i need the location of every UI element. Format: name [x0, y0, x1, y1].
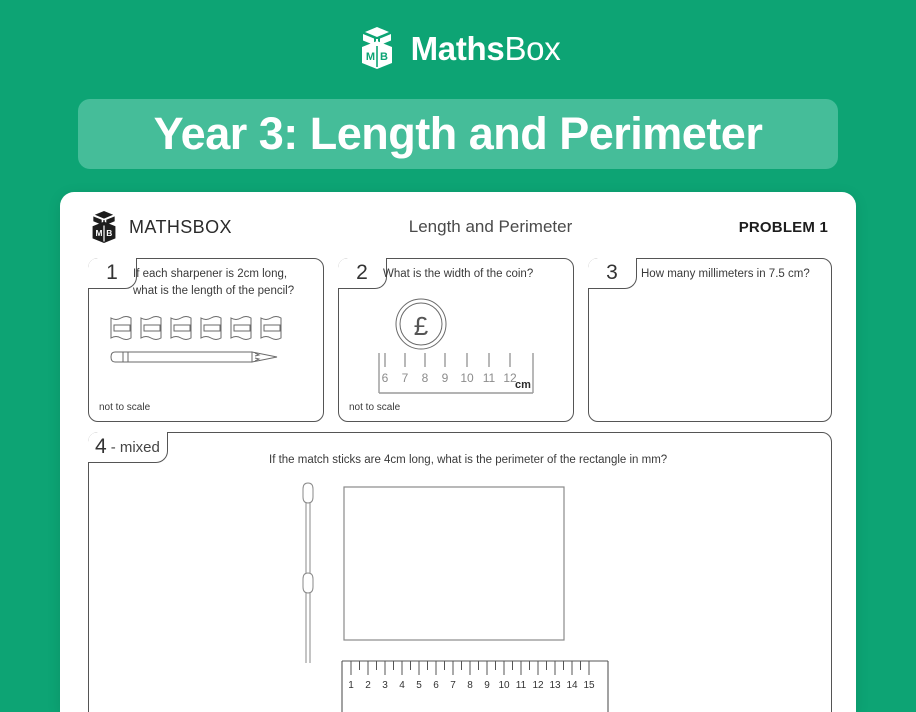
worksheet-brand-label: MATHSBOX	[129, 217, 232, 238]
svg-text:B: B	[106, 228, 112, 238]
svg-text:5: 5	[416, 680, 422, 691]
svg-text:11: 11	[483, 371, 496, 385]
svg-text:7: 7	[450, 680, 456, 691]
svg-text:14: 14	[566, 680, 578, 691]
pencil-illustration	[109, 347, 295, 369]
question-3-text: How many millimeters in 7.5 cm?	[641, 266, 827, 283]
worksheet-problem-label: PROBLEM 1	[638, 219, 828, 236]
brand-name-bold: Maths	[411, 30, 505, 67]
question-row: 1 If each sharpener is 2cm long, what is…	[88, 258, 830, 420]
svg-text:M: M	[366, 51, 375, 63]
worksheet-card: M B MATHSBOX Length and Perimeter PROBLE…	[60, 192, 856, 712]
svg-text:13: 13	[549, 680, 561, 691]
page-title: Year 3: Length and Perimeter	[154, 108, 763, 160]
worksheet-brand: M B MATHSBOX	[88, 210, 343, 244]
svg-text:3: 3	[382, 680, 388, 691]
mathsbox-logo-icon: M B	[88, 210, 120, 244]
svg-text:12: 12	[532, 680, 544, 691]
question-1-footnote: not to scale	[99, 402, 150, 413]
svg-text:£: £	[414, 311, 429, 341]
question-4: 4 - mixed If the match sticks are 4cm lo…	[88, 432, 832, 712]
question-1-text: If each sharpener is 2cm long, what is t…	[133, 266, 313, 299]
question-2-number: 2	[338, 258, 387, 289]
worksheet-topic: Length and Perimeter	[343, 217, 638, 237]
sharpeners-illustration	[109, 314, 295, 342]
svg-text:7: 7	[402, 371, 409, 385]
svg-text:1: 1	[348, 680, 354, 691]
question-2: 2 What is the width of the coin? £	[338, 258, 574, 422]
svg-text:11: 11	[516, 680, 527, 691]
svg-text:6: 6	[433, 680, 439, 691]
svg-text:4: 4	[399, 680, 405, 691]
svg-text:10: 10	[460, 371, 474, 385]
pound-coin-illustration: £	[391, 297, 451, 351]
question-3: 3 How many millimeters in 7.5 cm?	[588, 258, 832, 422]
svg-text:9: 9	[442, 371, 449, 385]
svg-text:2: 2	[365, 680, 371, 691]
question-4-number: 4 - mixed	[88, 432, 168, 463]
question-4-suffix: - mixed	[111, 439, 160, 456]
svg-text:8: 8	[467, 680, 473, 691]
question-1: 1 If each sharpener is 2cm long, what is…	[88, 258, 324, 422]
worksheet-header: M B MATHSBOX Length and Perimeter PROBLE…	[88, 206, 828, 248]
question-1-number: 1	[88, 258, 137, 289]
svg-text:9: 9	[484, 680, 490, 691]
svg-text:8: 8	[422, 371, 429, 385]
question-4-text: If the match sticks are 4cm long, what i…	[269, 454, 667, 466]
question-2-text: What is the width of the coin?	[383, 266, 565, 283]
svg-text:15: 15	[583, 680, 595, 691]
svg-text:B: B	[380, 51, 388, 63]
brand-wordmark: MathsBox	[411, 32, 561, 65]
question-2-footnote: not to scale	[349, 402, 400, 413]
svg-text:6: 6	[382, 371, 389, 385]
brand-header: M B MathsBox	[0, 26, 916, 70]
svg-text:M: M	[96, 228, 103, 238]
ruler-illustration-cm: 6 7 8 9 10 11 12 cm	[377, 351, 537, 399]
brand-name-light: Box	[504, 30, 560, 67]
mathsbox-logo-icon: M B	[356, 26, 398, 70]
page-title-banner: Year 3: Length and Perimeter	[78, 99, 838, 169]
question-3-number: 3	[588, 258, 637, 289]
matchsticks-rectangle-ruler-illustration: 1 2 3 4 5 6 7 8 9 10 11 12 13 14	[284, 481, 704, 712]
svg-text:10: 10	[498, 680, 510, 691]
svg-text:cm: cm	[515, 379, 531, 391]
